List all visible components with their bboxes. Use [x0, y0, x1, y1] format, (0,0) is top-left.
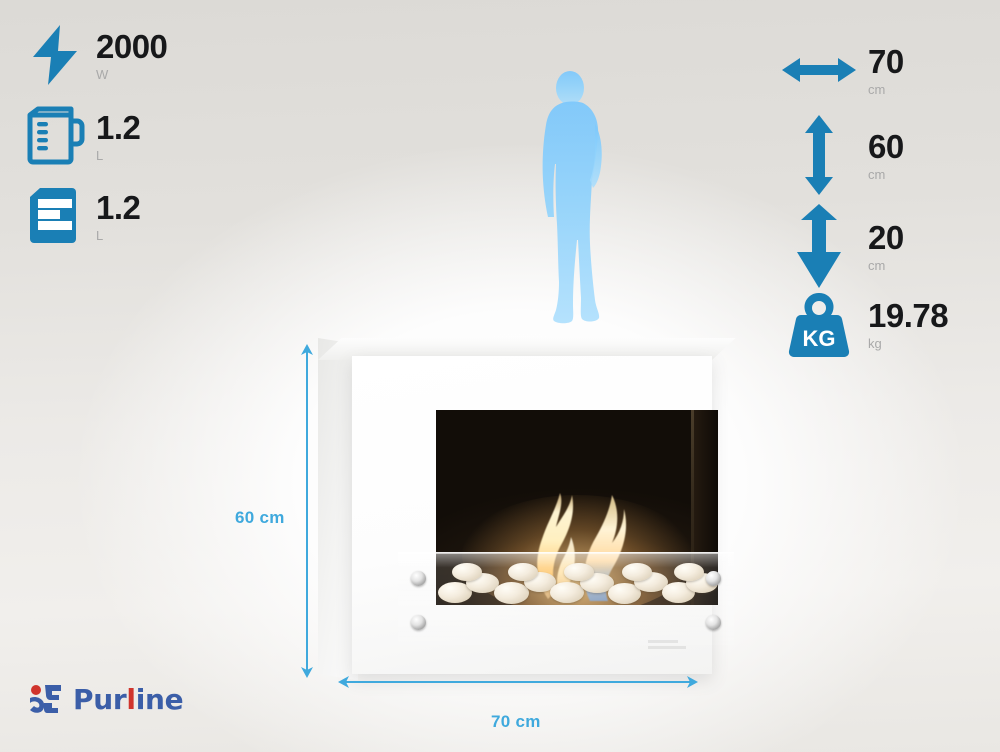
spec-value-capacity: 1.2: [96, 111, 140, 144]
measuring-jug-outline-icon: [18, 105, 92, 167]
arrow-vertical-icon: [776, 113, 862, 197]
glass-bolt-bottom-left: [411, 615, 426, 630]
spec-row-burner-capacity: 1.2 L: [18, 182, 140, 250]
spec-value-height: 60: [868, 130, 904, 163]
dimension-label-width: 70 cm: [491, 712, 541, 732]
spec-value-burner: 1.2: [96, 191, 140, 224]
spec-unit-weight: kg: [868, 337, 882, 350]
measuring-jug-filled-icon: [18, 185, 92, 247]
spec-unit-burner: L: [96, 229, 140, 242]
fireplace-glass-panel: [398, 552, 734, 645]
spec-row-width: 70 cm: [776, 40, 904, 100]
spec-unit-width: cm: [868, 83, 885, 96]
fireplace-front-panel: [352, 356, 712, 674]
glass-bolt-top-left: [411, 571, 426, 586]
spec-value-depth: 20: [868, 221, 904, 254]
human-silhouette-icon: [521, 68, 621, 330]
spec-unit-depth: cm: [868, 259, 885, 272]
glass-bolt-top-right: [706, 571, 721, 586]
spec-row-height: 60 cm: [776, 112, 904, 198]
spec-row-depth: 20 cm: [776, 200, 904, 292]
dimension-line-height: [296, 342, 318, 680]
spec-value-power: 2000: [96, 30, 167, 63]
lightning-bolt-icon: [18, 24, 92, 86]
infographic-canvas: 2000 W 1.2 L: [0, 0, 1000, 752]
glass-bolt-bottom-right: [706, 615, 721, 630]
logo-text-part-2: l: [126, 683, 135, 716]
arrow-horizontal-icon: [776, 53, 862, 87]
logo-text-part-3: ine: [136, 683, 184, 716]
spec-row-weight: KG 19.78 kg: [776, 288, 948, 360]
dimension-label-height: 60 cm: [235, 508, 285, 528]
spec-unit-capacity: L: [96, 149, 140, 162]
spec-unit-power: W: [96, 68, 167, 81]
spec-value-width: 70: [868, 45, 904, 78]
arrow-down-thick-icon: [776, 202, 862, 290]
spec-value-weight: 19.78: [868, 299, 948, 332]
dimension-line-width: [336, 672, 700, 692]
weight-icon-label: KG: [803, 326, 836, 351]
spec-row-capacity: 1.2 L: [18, 102, 140, 170]
product-watermark: [648, 639, 690, 652]
purline-figure-mark-icon: [28, 684, 64, 714]
brand-logo: Purline: [28, 681, 183, 717]
product-image-fireplace: [318, 338, 712, 674]
brand-logo-text: Purline: [73, 683, 183, 716]
logo-text-part-1: Pur: [73, 683, 126, 716]
spec-unit-height: cm: [868, 168, 885, 181]
weight-kg-icon: KG: [776, 289, 862, 359]
spec-row-power: 2000 W: [18, 22, 167, 88]
